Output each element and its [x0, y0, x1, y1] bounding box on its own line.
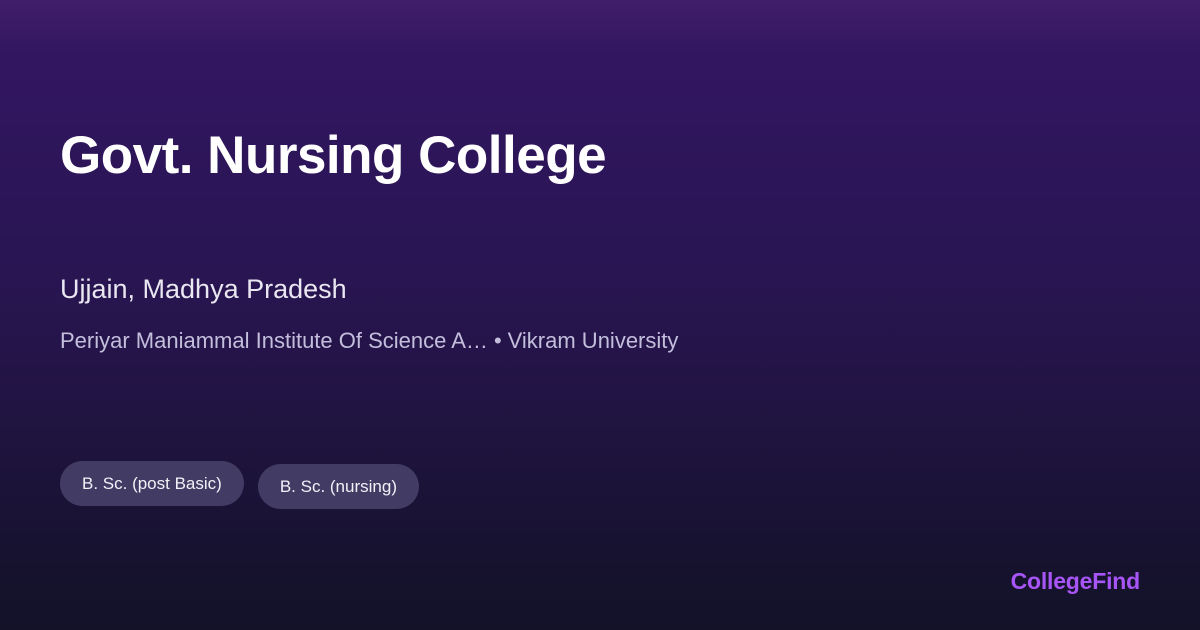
course-badge-list: B. Sc. (post Basic) B. Sc. (nursing): [60, 461, 419, 509]
affiliation-institute: Periyar Maniammal Institute Of Science A…: [60, 328, 488, 353]
course-badge[interactable]: B. Sc. (post Basic): [60, 461, 244, 506]
affiliation-university: Vikram University: [508, 328, 679, 353]
college-og-card: Govt. Nursing College Ujjain, Madhya Pra…: [0, 0, 1200, 630]
college-title: Govt. Nursing College: [60, 126, 606, 185]
card-content: Govt. Nursing College Ujjain, Madhya Pra…: [60, 0, 1140, 630]
college-location: Ujjain, Madhya Pradesh: [60, 272, 347, 307]
affiliation-separator-bullet: •: [488, 328, 508, 353]
college-affiliation: Periyar Maniammal Institute Of Science A…: [60, 327, 678, 356]
brand-logo-text: CollegeFind: [1011, 568, 1140, 596]
course-badge[interactable]: B. Sc. (nursing): [258, 464, 419, 509]
